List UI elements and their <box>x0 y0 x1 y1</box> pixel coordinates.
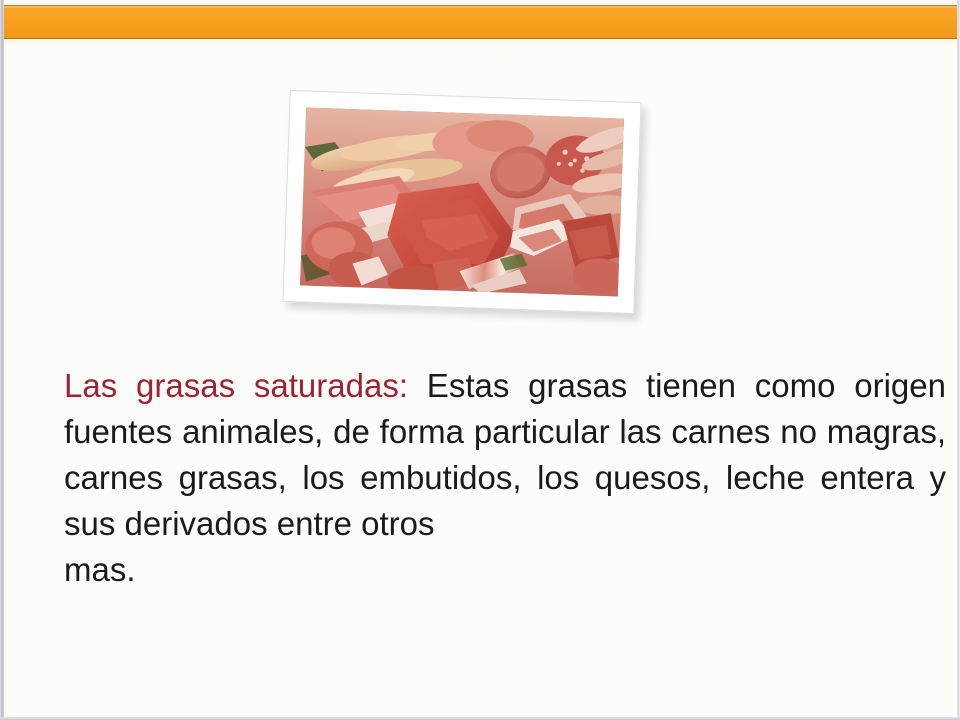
paragraph-lead: Las grasas saturadas: <box>64 367 408 404</box>
banner-glow <box>4 39 957 47</box>
banner-highlight <box>4 6 957 8</box>
paragraph-last-line: mas. <box>64 547 946 593</box>
meat-photograph <box>300 108 624 297</box>
orange-header-banner <box>4 5 957 39</box>
photo-white-frame <box>282 90 641 314</box>
photo-card <box>282 90 641 314</box>
slide-canvas: Las grasas saturadas: Estas grasas tiene… <box>0 0 960 720</box>
left-page-border <box>0 0 4 720</box>
body-paragraph: Las grasas saturadas: Estas grasas tiene… <box>64 363 946 593</box>
